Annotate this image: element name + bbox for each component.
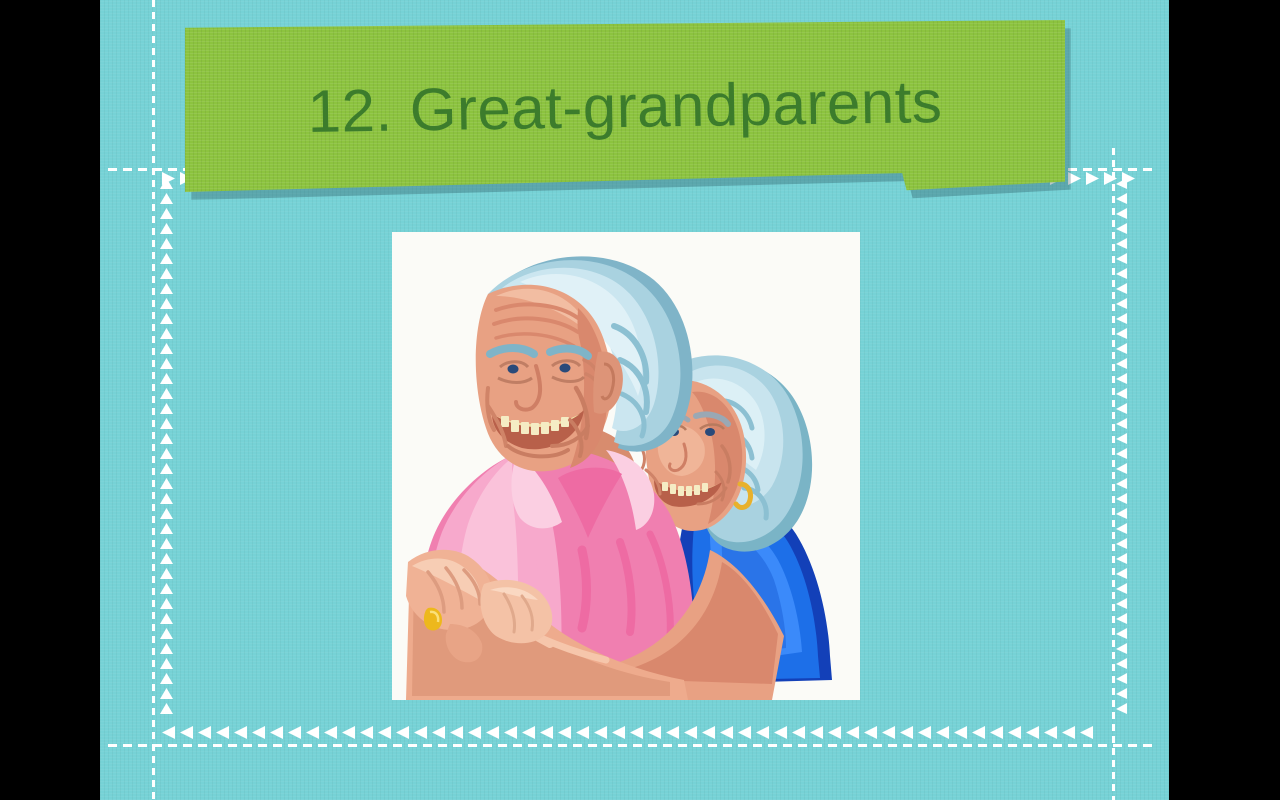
- dashed-rule-bottom: [108, 744, 1158, 747]
- triangle-column-right: [1116, 178, 1127, 714]
- title-banner: 12. Great-grandparents: [185, 20, 1065, 200]
- slide-stage: 12. Great-grandparents: [0, 0, 1280, 800]
- letterbox-bar-left: [0, 0, 100, 800]
- presentation-slide: 12. Great-grandparents: [100, 0, 1169, 800]
- photo-frame: [392, 232, 860, 700]
- triangle-row-bottom: [162, 726, 1093, 739]
- letterbox-bar-right: [1169, 0, 1280, 800]
- page-title: 12. Great-grandparents: [184, 13, 1067, 199]
- triangle-column-left: [160, 178, 173, 714]
- elderly-couple-illustration: [392, 232, 860, 700]
- dashed-rule-right: [1112, 148, 1115, 800]
- dashed-rule-left: [152, 0, 155, 800]
